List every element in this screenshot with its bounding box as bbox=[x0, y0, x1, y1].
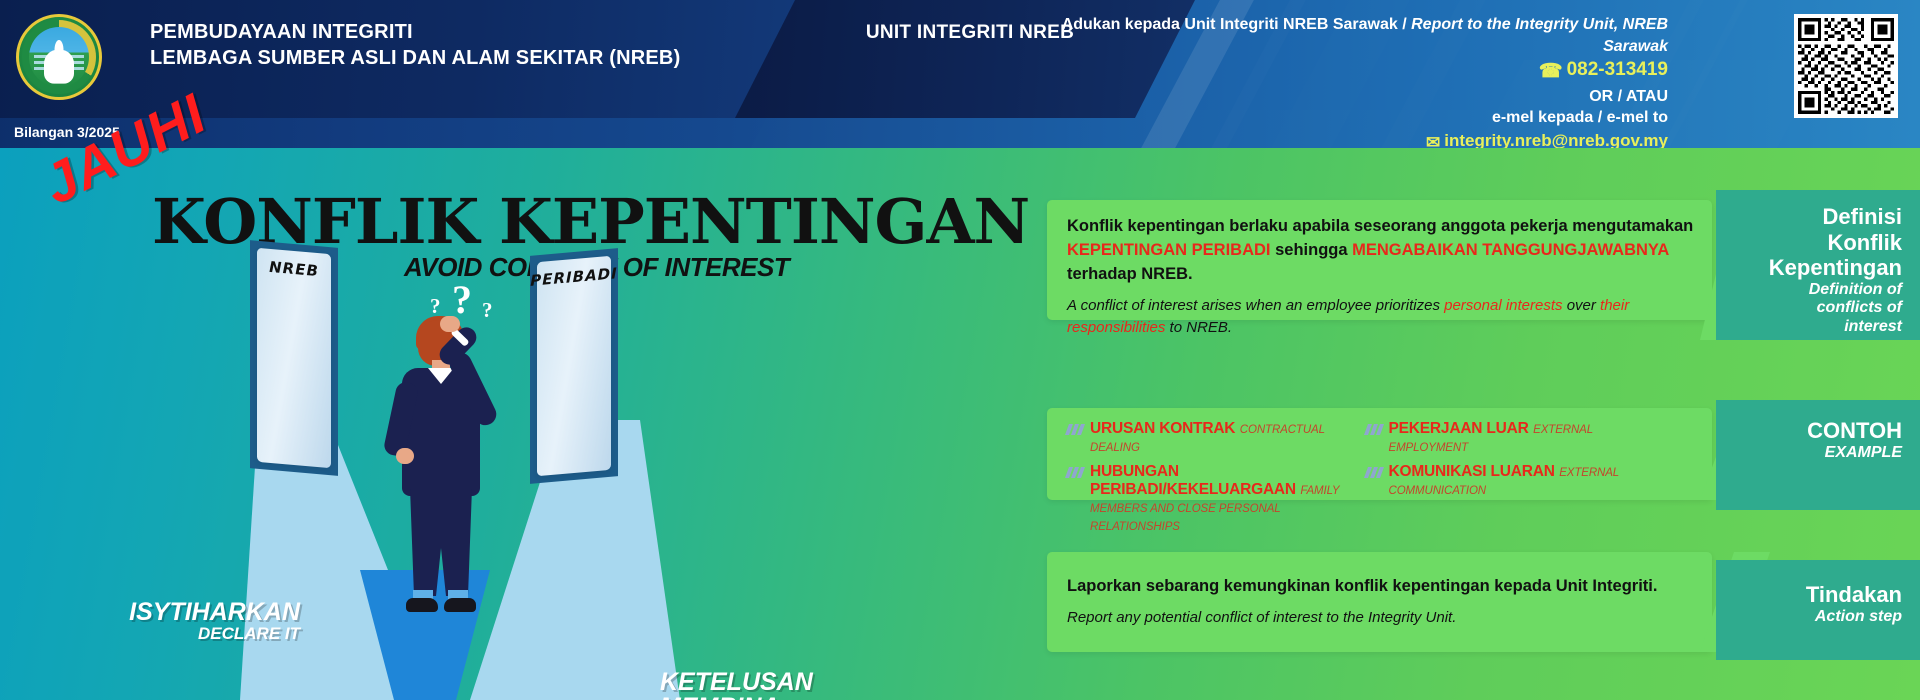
page-header: PEMBUDAYAAN INTEGRITI LEMBAGA SUMBER ASL… bbox=[0, 0, 1920, 148]
examples-tab-en: EXAMPLE bbox=[1807, 444, 1902, 463]
illustration: NREB PERIBADI ? ? ? bbox=[0, 270, 840, 700]
caption-declare-en: DECLARE IT bbox=[110, 625, 300, 643]
speed-lines-icon bbox=[1363, 467, 1383, 478]
caption-declare: ISYTIHARKAN DECLARE IT bbox=[110, 600, 300, 643]
definition-text-en: A conflict of interest arises when an em… bbox=[1067, 295, 1696, 339]
action-tab-en: Action step bbox=[1806, 608, 1902, 627]
definition-tab-ms-1: Definisi bbox=[1769, 204, 1902, 230]
report-line: Adukan kepada Unit Integriti NREB Sarawa… bbox=[1008, 14, 1668, 57]
action-text-en: Report any potential conflict of interes… bbox=[1067, 607, 1696, 629]
caption-transparency: KETELUSAN MEMBINA KEPERCAYAAN TRANSPAREN… bbox=[660, 670, 920, 700]
phone-icon: ☎ bbox=[1539, 59, 1563, 86]
caption-declare-ms: ISYTIHARKAN bbox=[110, 600, 300, 625]
action-text-ms: Laporkan sebarang kemungkinan konflik ke… bbox=[1067, 574, 1696, 598]
examples-panel: URUSAN KONTRAK CONTRACTUAL DEALING HUBUN… bbox=[1047, 408, 1712, 500]
figure-legs bbox=[410, 488, 472, 596]
definition-en-part1: A conflict of interest arises when an em… bbox=[1067, 297, 1444, 314]
definition-text-ms: Konflik kepentingan berlaku apabila sese… bbox=[1067, 214, 1696, 286]
email-value: integrity.nreb@nreb.gov.my bbox=[1444, 131, 1668, 148]
phone-value: 082-313419 bbox=[1567, 59, 1668, 80]
example-item: KOMUNIKASI LUARAN EXTERNAL COMMUNICATION bbox=[1366, 463, 1643, 499]
example-2-ms: PEKERJAAN LUAR bbox=[1389, 420, 1529, 437]
definition-en-part3: to NREB. bbox=[1165, 319, 1232, 336]
example-3-ms: KOMUNIKASI LUARAN bbox=[1389, 463, 1555, 480]
definition-ms-part2: sehingga bbox=[1271, 241, 1353, 259]
phone-number[interactable]: ☎082-313419 bbox=[1008, 57, 1668, 86]
envelope-icon: ✉ bbox=[1426, 131, 1440, 148]
example-1-ms: HUBUNGAN PERIBADI/KEKELUARGAAN bbox=[1090, 463, 1296, 498]
definition-tab-en-3: interest bbox=[1769, 318, 1902, 337]
examples-column-right: PEKERJAAN LUAR EXTERNAL EMPLOYMENT KOMUN… bbox=[1366, 420, 1643, 542]
org-title: PEMBUDAYAAN INTEGRITI LEMBAGA SUMBER ASL… bbox=[150, 20, 680, 71]
action-tab-ms: Tindakan bbox=[1806, 582, 1902, 608]
email-label: e-mel kepada / e-mel to bbox=[1008, 107, 1668, 129]
nreb-logo-icon bbox=[16, 14, 102, 100]
example-item: PEKERJAAN LUAR EXTERNAL EMPLOYMENT bbox=[1366, 420, 1643, 456]
org-line-1: PEMBUDAYAAN INTEGRITI bbox=[150, 20, 680, 46]
businessman-figure: ? ? ? bbox=[388, 290, 496, 620]
contact-block: Adukan kepada Unit Integriti NREB Sarawa… bbox=[1008, 14, 1668, 148]
definition-ms-part1: Konflik kepentingan berlaku apabila sese… bbox=[1067, 217, 1693, 235]
definition-tab-en-2: conflicts of bbox=[1769, 299, 1902, 318]
definition-en-highlight1: personal interests bbox=[1444, 297, 1562, 314]
definition-en-part2: over bbox=[1563, 297, 1601, 314]
speed-lines-icon bbox=[1363, 424, 1383, 435]
definition-ms-highlight2: MENGABAIKAN TANGGUNGJAWABNYA bbox=[1352, 241, 1669, 259]
figure-right-hand bbox=[440, 316, 460, 332]
action-tab: Tindakan Action step bbox=[1716, 560, 1920, 660]
definition-ms-part3: terhadap NREB. bbox=[1067, 265, 1193, 283]
speed-lines-icon bbox=[1065, 424, 1085, 435]
qr-code[interactable] bbox=[1794, 14, 1898, 118]
report-line-ms: Adukan kepada Unit Integriti NREB Sarawa… bbox=[1062, 16, 1411, 33]
examples-tab-ms: CONTOH bbox=[1807, 418, 1902, 444]
definition-tab-ms-3: Kepentingan bbox=[1769, 255, 1902, 281]
door-peribadi: PERIBADI bbox=[530, 248, 618, 484]
report-line-en: Report to the Integrity Unit, NREB Saraw… bbox=[1411, 16, 1668, 55]
door-nreb: NREB bbox=[250, 240, 338, 476]
definition-tab-en-1: Definition of bbox=[1769, 281, 1902, 300]
examples-column-left: URUSAN KONTRAK CONTRACTUAL DEALING HUBUN… bbox=[1067, 420, 1344, 542]
question-mark-small-right: ? bbox=[482, 298, 493, 323]
definition-tab: Definisi Konflik Kepentingan Definition … bbox=[1716, 190, 1920, 340]
definition-panel: Konflik kepentingan berlaku apabila sese… bbox=[1047, 200, 1712, 320]
speed-lines-icon bbox=[1065, 467, 1085, 478]
or-text: OR / ATAU bbox=[1008, 86, 1668, 108]
figure-left-shoe bbox=[406, 598, 438, 612]
email-address[interactable]: ✉integrity.nreb@nreb.gov.my bbox=[1008, 129, 1668, 148]
examples-tab: CONTOH EXAMPLE bbox=[1716, 400, 1920, 510]
figure-left-hand bbox=[396, 448, 414, 464]
definition-tab-ms-2: Konflik bbox=[1769, 230, 1902, 256]
example-0-ms: URUSAN KONTRAK bbox=[1090, 420, 1235, 437]
infographic-poster: PEMBUDAYAAN INTEGRITI LEMBAGA SUMBER ASL… bbox=[0, 0, 1920, 700]
definition-ms-highlight1: KEPENTINGAN PERIBADI bbox=[1067, 241, 1271, 259]
action-panel: Laporkan sebarang kemungkinan konflik ke… bbox=[1047, 552, 1712, 652]
example-item: HUBUNGAN PERIBADI/KEKELUARGAAN FAMILY ME… bbox=[1067, 463, 1344, 535]
figure-right-shoe bbox=[444, 598, 476, 612]
org-line-2: LEMBAGA SUMBER ASLI DAN ALAM SEKITAR (NR… bbox=[150, 46, 680, 72]
caption-transparency-ms-1: KETELUSAN MEMBINA bbox=[660, 670, 920, 700]
example-item: URUSAN KONTRAK CONTRACTUAL DEALING bbox=[1067, 420, 1344, 456]
